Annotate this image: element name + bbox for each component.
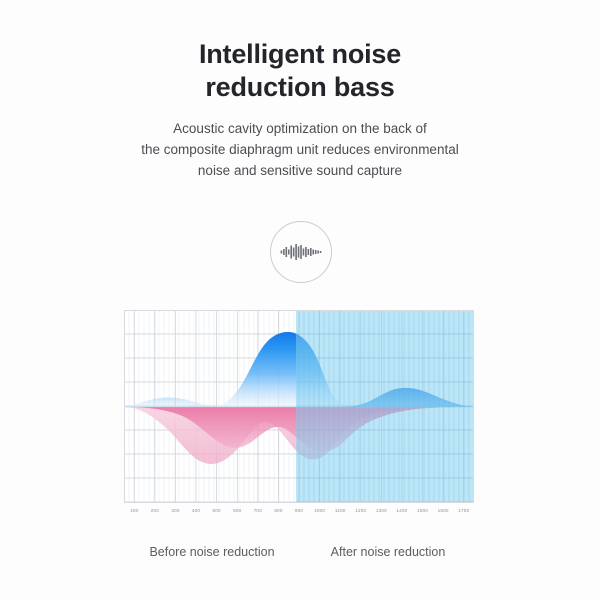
x-axis-tick-1000: 1000 xyxy=(314,506,325,516)
frequency-response-chart xyxy=(124,310,474,503)
chart-svg xyxy=(124,310,474,503)
x-axis-tick-500: 500 xyxy=(213,506,221,516)
page-subtitle-line-2: the composite diaphragm unit reduces env… xyxy=(0,139,600,160)
x-axis-tick-1500: 1500 xyxy=(417,506,428,516)
x-axis-tick-200: 200 xyxy=(151,506,159,516)
x-axis-tick-700: 700 xyxy=(254,506,262,516)
x-axis-tick-1400: 1400 xyxy=(396,506,407,516)
x-axis-tick-100: 100 xyxy=(130,506,138,516)
x-axis-tick-400: 400 xyxy=(192,506,200,516)
x-axis-tick-1100: 1100 xyxy=(335,506,346,516)
page-subtitle: Acoustic cavity optimization on the back… xyxy=(0,118,600,181)
legend-before-noise-reduction: Before noise reduction xyxy=(149,543,274,561)
x-axis-tick-600: 600 xyxy=(233,506,241,516)
page-subtitle-line-1: Acoustic cavity optimization on the back… xyxy=(0,118,600,139)
x-axis-tick-800: 800 xyxy=(274,506,282,516)
page-title: Intelligent noise reduction bass xyxy=(0,38,600,104)
after-noise-reduction-region xyxy=(296,310,474,503)
x-axis-tick-1600: 1600 xyxy=(438,506,449,516)
x-axis-tick-1700: 1700 xyxy=(458,506,469,516)
promo-page: Intelligent noise reduction bass Acousti… xyxy=(0,0,600,600)
chart-legend: Before noise reduction After noise reduc… xyxy=(124,543,474,563)
audio-waveform-icon xyxy=(271,222,331,282)
x-axis-tick-1300: 1300 xyxy=(376,506,387,516)
x-axis-tick-1200: 1200 xyxy=(355,506,366,516)
page-subtitle-line-3: noise and sensitive sound capture xyxy=(0,160,600,181)
page-title-line-1: Intelligent noise xyxy=(0,38,600,71)
waveform-badge xyxy=(270,221,332,283)
legend-after-noise-reduction: After noise reduction xyxy=(331,543,446,561)
page-title-line-2: reduction bass xyxy=(0,71,600,104)
x-axis-tick-300: 300 xyxy=(171,506,179,516)
x-axis-tick-900: 900 xyxy=(295,506,303,516)
chart-x-axis: 1002003004005006007008009001000110012001… xyxy=(124,506,474,518)
